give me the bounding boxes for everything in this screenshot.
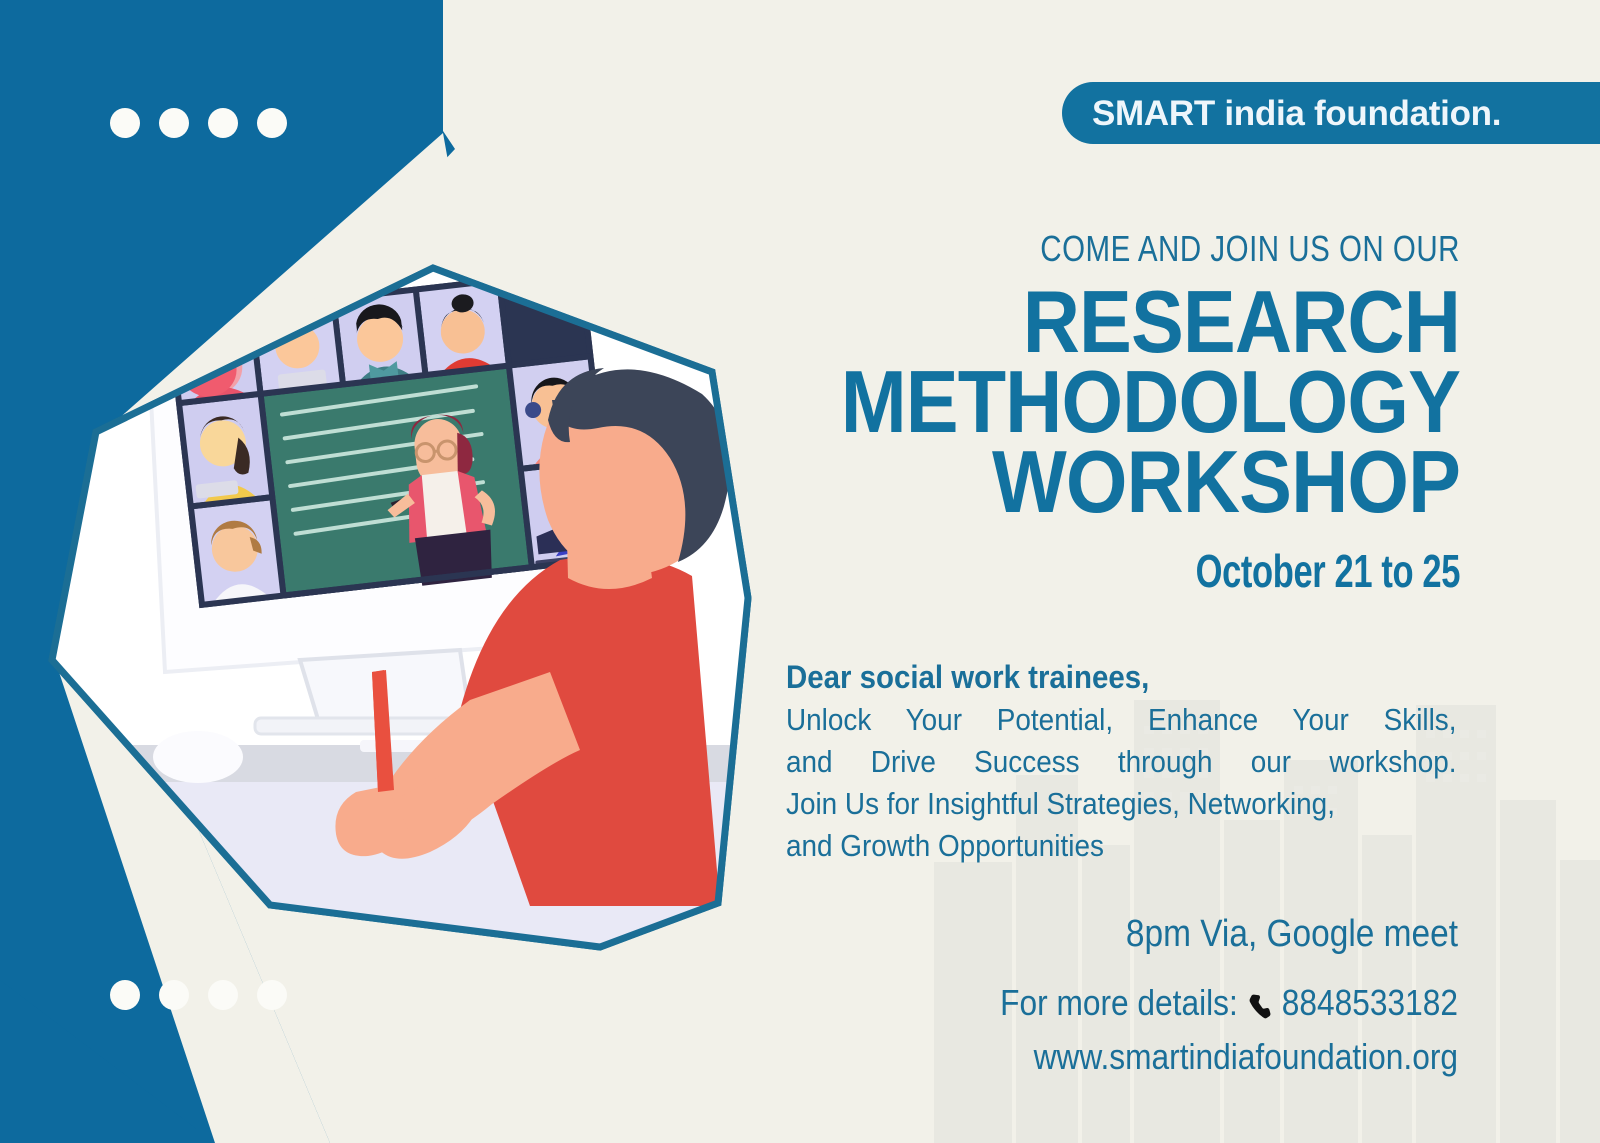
mouse-icon (153, 731, 243, 783)
body-paragraph: Unlock Your Potential, Enhance Your Skil… (786, 699, 1457, 867)
paragraph-line-2: and Drive Success through our workshop. (786, 741, 1457, 783)
dot (159, 980, 189, 1010)
headline-line-2: METHODOLOGY (650, 362, 1460, 442)
contact-label: For more details: (1000, 982, 1238, 1024)
dots-top-row (110, 108, 287, 138)
contact-info: For more details: 8848533182 (791, 982, 1458, 1024)
meeting-info: 8pm Via, Google meet (791, 912, 1458, 956)
date-range: October 21 to 25 (890, 546, 1460, 596)
dot (110, 108, 140, 138)
dot (208, 108, 238, 138)
phone-handset-icon (1247, 990, 1273, 1022)
paragraph-line-1: Unlock Your Potential, Enhance Your Skil… (786, 699, 1457, 741)
brand-name: SMART india foundation. (1092, 96, 1501, 131)
brand-badge: SMART india foundation. (1062, 82, 1600, 144)
paragraph-line-3: Join Us for Insightful Strategies, Netwo… (786, 783, 1457, 825)
dot (110, 980, 140, 1010)
website-url[interactable]: www.smartindiafoundation.org (791, 1036, 1458, 1078)
dot (257, 108, 287, 138)
dot (257, 980, 287, 1010)
phone-number[interactable]: 8848533182 (1282, 982, 1458, 1024)
eyebrow-text: COME AND JOIN US ON OUR (837, 228, 1460, 270)
body-copy: Dear social work trainees, Unlock Your P… (786, 655, 1458, 867)
headline: RESEARCH METHODOLOGY WORKSHOP (650, 282, 1460, 522)
paragraph-line-4: and Growth Opportunities (786, 825, 1457, 867)
dots-bottom-row (110, 980, 287, 1010)
salutation: Dear social work trainees, (786, 655, 1404, 699)
dot (208, 980, 238, 1010)
headline-line-1: RESEARCH (650, 282, 1460, 362)
poster-canvas: SMART india foundation. COME AND JOIN US… (0, 0, 1600, 1143)
headline-line-3: WORKSHOP (650, 442, 1460, 522)
dot (159, 108, 189, 138)
